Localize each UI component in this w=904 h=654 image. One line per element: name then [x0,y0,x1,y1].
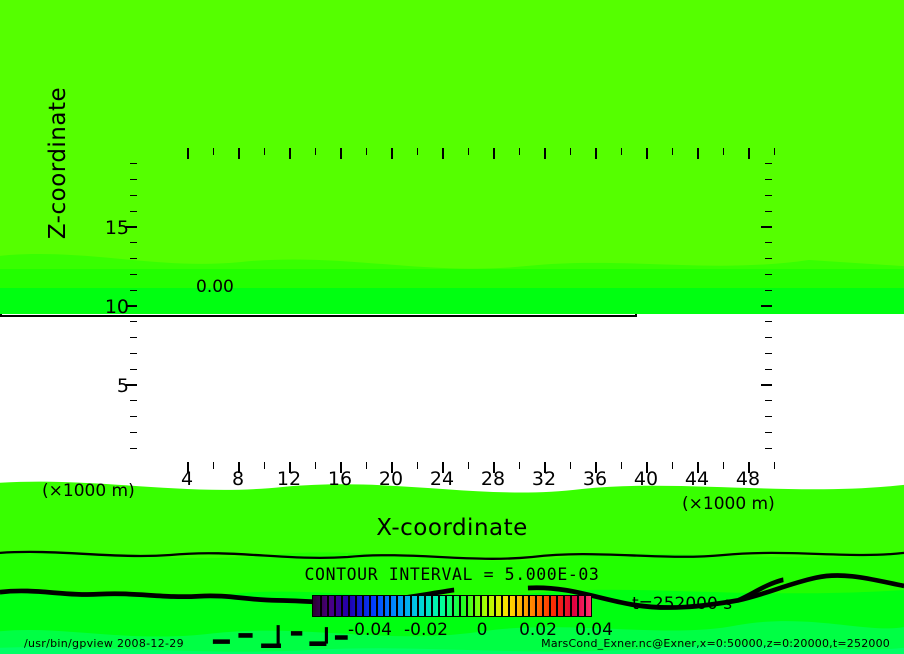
axis-tick-minor [130,353,137,354]
axis-tick-major [646,148,648,159]
axis-tick-minor [765,195,772,196]
axis-tick-minor [130,416,137,417]
axis-tick-minor [130,448,137,449]
axis-tick-major [187,148,189,159]
colorbar-separator [417,596,419,616]
axis-tick-major [238,148,240,159]
x-tick-label: 12 [264,468,314,490]
colorbar-separator [487,596,489,616]
axis-tick-minor [570,148,571,155]
colorbar-separator [438,596,440,616]
colorbar-separator [535,596,537,616]
colorbar-separators [313,596,591,616]
axis-tick-minor [315,148,316,155]
colorbar-separator [327,596,329,616]
colorbar-separator [403,596,405,616]
colorbar-separator [494,596,496,616]
y-tick-label: 15 [89,217,129,239]
axis-tick-minor [765,274,772,275]
colorbar[interactable] [312,595,592,617]
axis-tick-major [340,148,342,159]
axis-tick-minor [130,274,137,275]
axis-tick-minor [765,337,772,338]
axis-tick-minor [765,353,772,354]
colorbar-separator [501,596,503,616]
axis-tick-minor [765,369,772,370]
axis-tick-minor [621,148,622,155]
x-tick-label: 36 [570,468,620,490]
colorbar-separator [563,596,565,616]
colorbar-separator [584,596,586,616]
axis-tick-minor [264,148,265,155]
colorbar-separator [348,596,350,616]
colorbar-separator [369,596,371,616]
axis-tick-minor [723,148,724,155]
axis-tick-minor [417,148,418,155]
axis-tick-minor [519,148,520,155]
colorbar-separator [376,596,378,616]
contour-interval-caption: CONTOUR INTERVAL = 5.000E-03 [0,565,904,584]
colorbar-separator [383,596,385,616]
x-axis-title: X-coordinate [0,515,904,541]
axis-tick-major [761,384,772,386]
colorbar-separator [452,596,454,616]
x-tick-label: 8 [213,468,263,490]
x-tick-label: 40 [621,468,671,490]
axis-tick-minor [765,242,772,243]
axis-tick-major [289,148,291,159]
colorbar-separator [542,596,544,616]
axis-tick-minor [765,416,772,417]
x-tick-label: 32 [519,468,569,490]
axis-tick-major [761,305,772,307]
axis-tick-minor [130,369,137,370]
colorbar-separator [556,596,558,616]
footer-command: /usr/bin/gpview 2008-12-29 [24,637,184,650]
colorbar-separator [466,596,468,616]
axis-tick-major [544,148,546,159]
colorbar-separator [480,596,482,616]
axis-tick-minor [130,179,137,180]
colorbar-separator [320,596,322,616]
y-axis-title: Z-coordinate [45,43,71,283]
axis-tick-major [697,148,699,159]
axis-tick-minor [765,179,772,180]
x-tick-label: 20 [366,468,416,490]
colorbar-separator [341,596,343,616]
footer-datasource: MarsCond_Exner.nc@Exner,x=0:50000,z=0:20… [541,637,890,650]
colorbar-separator [431,596,433,616]
axis-tick-minor [765,321,772,322]
colorbar-separator [577,596,579,616]
axis-tick-minor [130,163,137,164]
axis-tick-minor [468,148,469,155]
colorbar-separator [508,596,510,616]
colorbar-separator [528,596,530,616]
x-axis-unit-note: (×1000 m) [682,494,775,514]
colorbar-separator [459,596,461,616]
y-axis-right-ticks [774,147,786,464]
colorbar-separator [570,596,572,616]
colorbar-separator [355,596,357,616]
colorbar-separator [445,596,447,616]
time-label: t=252000 s [632,594,732,614]
axis-tick-minor [130,290,137,291]
x-tick-label: 16 [315,468,365,490]
axis-tick-minor [765,400,772,401]
axis-tick-minor [130,195,137,196]
axis-tick-minor [130,258,137,259]
y-axis-unit-note: (×1000 m) [42,481,135,501]
axis-tick-minor [765,163,772,164]
axis-tick-minor [672,148,673,155]
axis-tick-minor [765,211,772,212]
x-tick-label: 24 [417,468,467,490]
axis-tick-minor [765,448,772,449]
colorbar-separator [473,596,475,616]
x-axis-top-ticks [137,148,774,160]
colorbar-separator [549,596,551,616]
colorbar-separator [396,596,398,616]
y-tick-label: 10 [89,296,129,318]
colorbar-separator [389,596,391,616]
axis-tick-minor [765,432,772,433]
axis-tick-major [391,148,393,159]
axis-tick-minor [130,211,137,212]
x-tick-label: 44 [672,468,722,490]
x-tick-label: 28 [468,468,518,490]
axis-tick-minor [130,400,137,401]
colorbar-separator [515,596,517,616]
axis-tick-minor [765,258,772,259]
axis-tick-major [748,148,750,159]
axis-tick-minor [765,290,772,291]
axis-tick-minor [130,337,137,338]
y-tick-label: 5 [89,375,129,397]
axis-tick-major [761,226,772,228]
axis-tick-major [493,148,495,159]
x-tick-label: 48 [723,468,773,490]
colorbar-separator [362,596,364,616]
colorbar-separator [410,596,412,616]
colorbar-separator [522,596,524,616]
axis-tick-minor [366,148,367,155]
axis-tick-minor [130,432,137,433]
colorbar-separator [424,596,426,616]
axis-tick-minor [213,148,214,155]
colorbar-separator [334,596,336,616]
x-tick-label: 4 [162,468,212,490]
contour-label-zero: 0.00 [196,277,234,297]
axis-tick-major [442,148,444,159]
axis-tick-minor [130,242,137,243]
axis-tick-minor [130,321,137,322]
axis-tick-major [595,148,597,159]
